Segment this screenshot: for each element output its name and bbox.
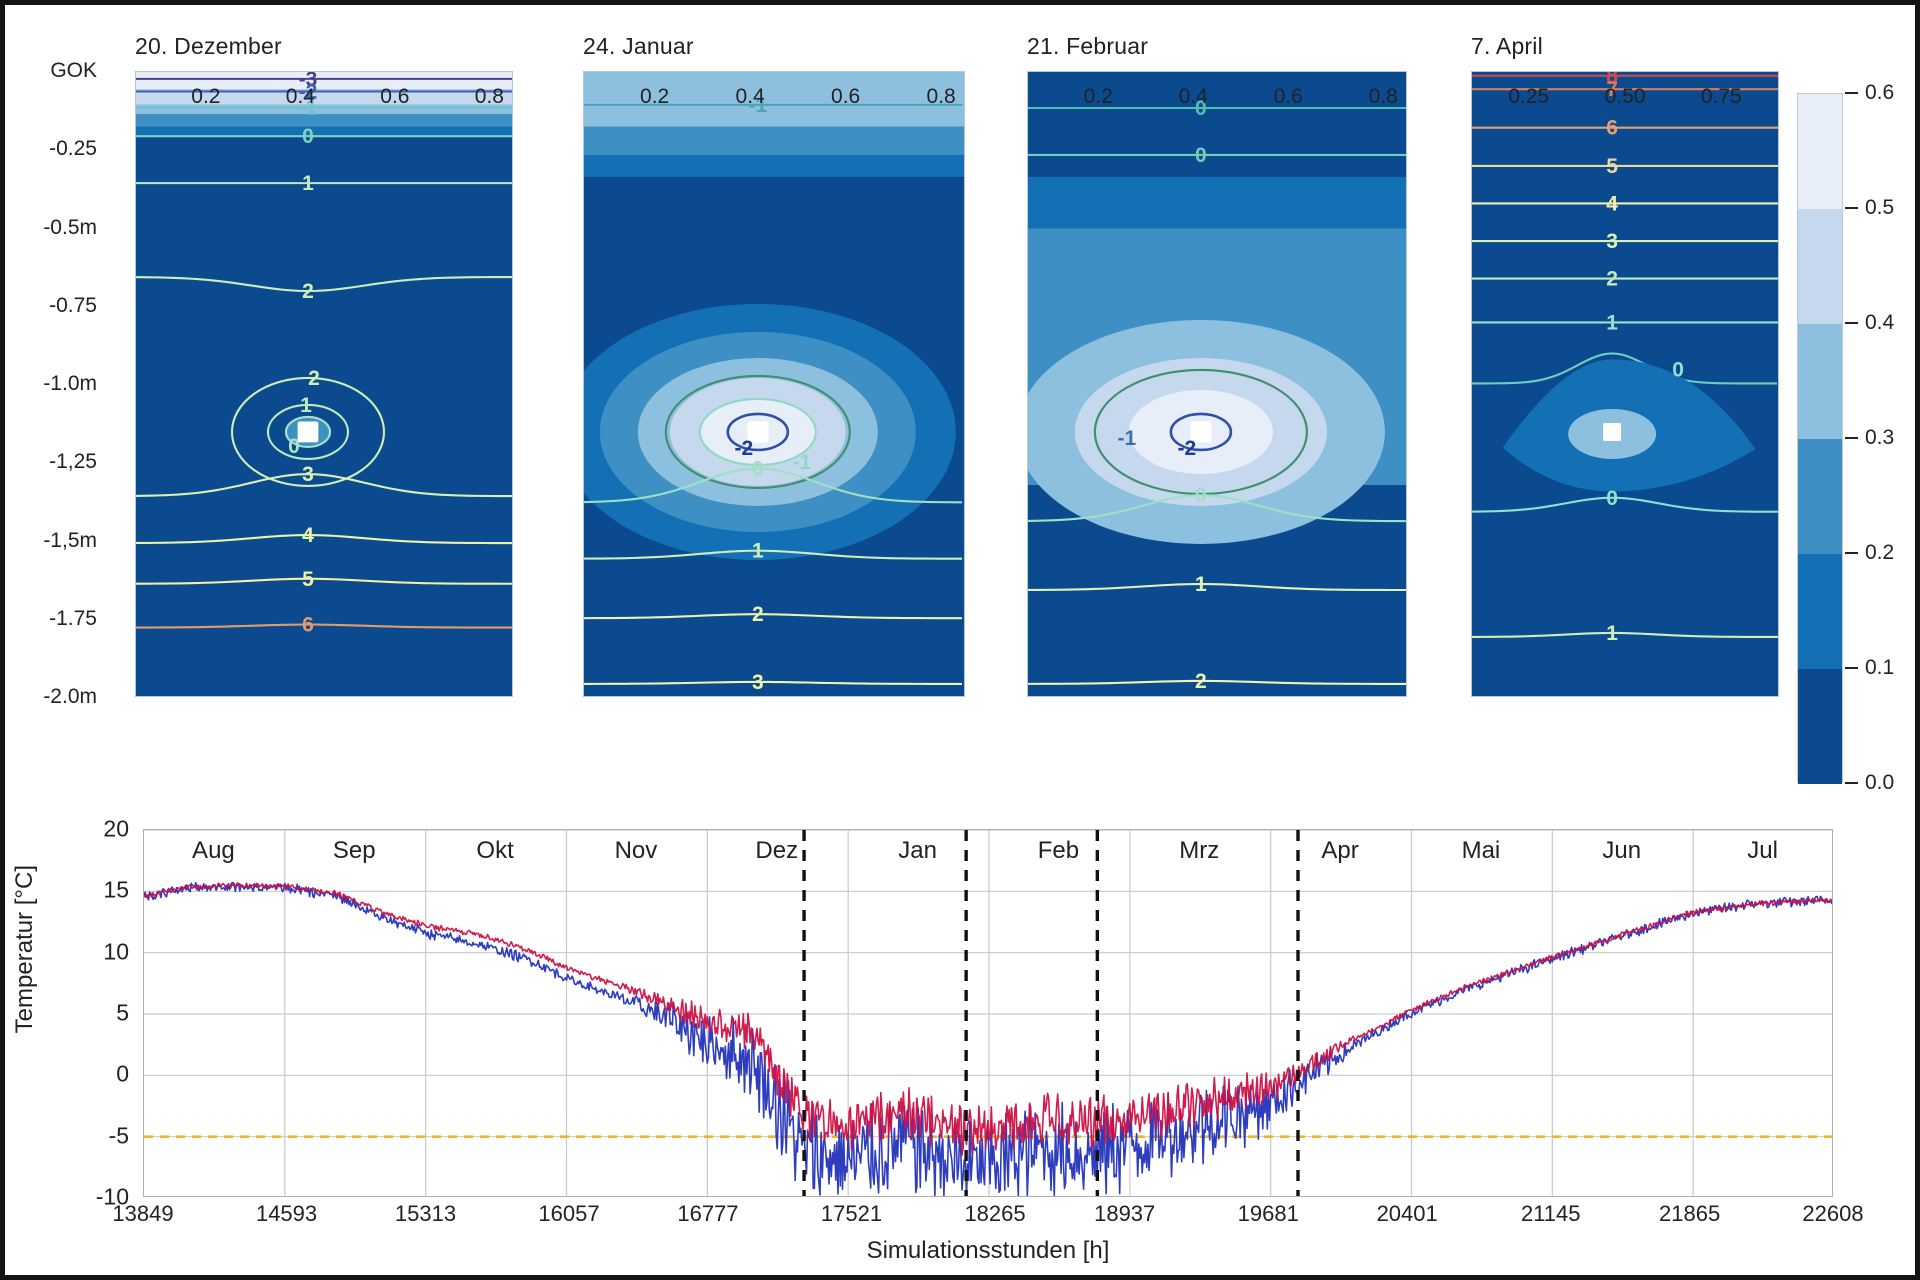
colorbar-tick-value: 0.1 — [1865, 656, 1894, 679]
contour-label: -1 — [1118, 427, 1137, 450]
month-label: Aug — [192, 837, 235, 865]
contour-label: 2 — [302, 280, 314, 303]
depth-tick-label: -1,5m — [43, 529, 97, 553]
contour-label: 0 — [1672, 358, 1684, 381]
colorbar-tick-value: 0.4 — [1865, 311, 1894, 334]
timeseries-x-tick-label: 14593 — [256, 1201, 317, 1227]
panel-x-tick-label: 0.6 — [1274, 85, 1303, 109]
contour-label: 1 — [300, 394, 312, 417]
contour-label: 0 — [1606, 487, 1618, 510]
colorbar-tick-label: 0.6 — [1845, 81, 1894, 105]
timeseries-x-tick-label: 21865 — [1659, 1201, 1720, 1227]
depth-tick-label: -1.75 — [49, 607, 97, 631]
contour-label: 5 — [302, 568, 314, 591]
timeseries-y-tick-label: 15 — [103, 877, 129, 904]
contour-plot-area[interactable]: 87654321001 — [1471, 71, 1779, 697]
colorbar-band — [1798, 669, 1842, 784]
timeseries-x-tick-label: 20401 — [1377, 1201, 1438, 1227]
contour-label: 1 — [1195, 573, 1207, 596]
contour-label: 0 — [1195, 144, 1207, 167]
timeseries-y-tick-label: 10 — [103, 938, 129, 965]
contour-label: 4 — [302, 524, 314, 547]
month-label: Nov — [615, 837, 658, 865]
colorbar-band — [1798, 94, 1842, 209]
timeseries-chart: 20151050-5-10 AugSepOktNovDezJanFebMrzAp… — [5, 805, 1915, 1275]
contour-label: 0 — [752, 457, 764, 480]
timeseries-x-tick-label: 21145 — [1521, 1201, 1581, 1227]
colorbar-tick-value: 0.5 — [1865, 196, 1894, 219]
colorbar-tick-value: 0.6 — [1865, 81, 1894, 104]
panel-x-tick-label: 0.2 — [640, 85, 669, 109]
contour-label: 0 — [288, 435, 300, 458]
contour-field: 00-2-1012 — [1028, 72, 1407, 697]
depth-tick-label: -1.0m — [43, 372, 97, 396]
timeseries-x-tick-label: 13849 — [112, 1201, 173, 1227]
month-label: Okt — [476, 837, 513, 865]
colorbar[interactable] — [1797, 93, 1843, 783]
contour-field: -1-2-10123 — [584, 72, 965, 697]
colorbar-tick-label: 0.1 — [1845, 656, 1894, 680]
contour-label: 2 — [752, 603, 764, 626]
timeseries-x-axis-label: Simulationsstunden [h] — [143, 1237, 1833, 1265]
month-label: Mrz — [1179, 837, 1219, 865]
depth-tick-label: GOK — [50, 59, 97, 83]
timeseries-x-tick-label: 17521 — [821, 1201, 882, 1227]
month-label: Mai — [1462, 837, 1501, 865]
timeseries-x-tick-label: 18265 — [964, 1201, 1025, 1227]
colorbar-tick-label: 0.4 — [1845, 311, 1894, 335]
timeseries-month-labels: AugSepOktNovDezJanFebMrzAprMaiJunJul — [143, 829, 1833, 873]
depth-axis: GOK-0.25-0.5m-0.75-1.0m-1,25-1,5m-1.75-2… — [5, 71, 105, 697]
contour-label: -2 — [1178, 437, 1197, 460]
timeseries-x-tick-label: 22608 — [1802, 1201, 1863, 1227]
colorbar-band — [1798, 554, 1842, 669]
timeseries-y-tick-label: 5 — [116, 1000, 129, 1027]
colorbar-tick-label: 0.2 — [1845, 541, 1894, 565]
panel-x-tick-label: 0.8 — [475, 85, 504, 109]
month-label: Dez — [755, 837, 798, 865]
colorbar-tick-value: 0.3 — [1865, 426, 1894, 449]
colorbar-ticks: 0.60.50.40.30.20.10.0 — [1845, 93, 1915, 783]
contour-label: 3 — [1606, 230, 1618, 253]
panel-x-tick-label: 0.6 — [380, 85, 409, 109]
panel-x-tick-label: 0.4 — [286, 85, 315, 109]
timeseries-x-tick-label: 16777 — [677, 1201, 738, 1227]
colorbar-band — [1798, 439, 1842, 554]
contour-label: -1 — [792, 451, 811, 474]
timeseries-canvas — [144, 830, 1833, 1197]
depth-tick-label: -2.0m — [43, 685, 97, 709]
month-label: Feb — [1038, 837, 1079, 865]
timeseries-y-tick-label: 20 — [103, 816, 129, 843]
timeseries-y-ticks: 20151050-5-10 — [63, 829, 137, 1197]
timeseries-x-tick-label: 15313 — [395, 1201, 456, 1227]
colorbar-tick-label: 0.0 — [1845, 771, 1894, 795]
month-label: Sep — [333, 837, 376, 865]
colorbar-tick-label: 0.3 — [1845, 426, 1894, 450]
contour-label: 1 — [302, 172, 314, 195]
panel-x-tick-label: 0.8 — [1369, 85, 1398, 109]
contour-label: 2 — [1195, 670, 1207, 693]
contour-label: -2 — [734, 437, 753, 460]
colorbar-tick-label: 0.5 — [1845, 196, 1894, 220]
contour-plot-area[interactable]: -3-2-10122103456 — [135, 71, 513, 697]
contour-plot-area[interactable]: 00-2-1012 — [1027, 71, 1407, 697]
timeseries-x-ticks: 1384914593153131605716777175211826518937… — [143, 1201, 1833, 1241]
month-label: Jul — [1747, 837, 1778, 865]
figure-page: GOK-0.25-0.5m-0.75-1.0m-1,25-1,5m-1.75-2… — [0, 0, 1920, 1280]
contour-label: 1 — [1606, 311, 1618, 334]
timeseries-x-tick-label: 18937 — [1094, 1201, 1155, 1227]
contour-label: 0 — [1195, 484, 1207, 507]
contour-field: -3-2-10122103456 — [136, 72, 513, 697]
panel-x-tick-label: 0.50 — [1605, 85, 1646, 109]
contour-plot-area[interactable]: -1-2-10123 — [583, 71, 965, 697]
contour-label: 1 — [1606, 622, 1618, 645]
panel-x-tick-label: 0.25 — [1508, 85, 1549, 109]
depth-tick-label: -0.25 — [49, 137, 97, 161]
contour-label: 2 — [308, 367, 320, 390]
timeseries-y-tick-label: 0 — [116, 1061, 129, 1088]
panel-x-tick-label: 0.8 — [927, 85, 956, 109]
timeseries-y-tick-label: -5 — [109, 1122, 129, 1149]
panel-x-tick-label: 0.75 — [1701, 85, 1742, 109]
depth-tick-label: -0.75 — [49, 294, 97, 318]
contour-label: 1 — [752, 540, 764, 563]
panel-x-tick-label: 0.6 — [831, 85, 860, 109]
panel-x-tick-label: 0.2 — [1084, 85, 1113, 109]
colorbar-band — [1798, 209, 1842, 324]
colorbar-tick-value: 0.0 — [1865, 771, 1894, 794]
contour-label: 4 — [1606, 192, 1618, 215]
contour-label: 6 — [302, 614, 314, 637]
month-label: Jun — [1602, 837, 1641, 865]
contour-panel-row: GOK-0.25-0.5m-0.75-1.0m-1,25-1,5m-1.75-2… — [5, 5, 1915, 805]
depth-tick-label: -0.5m — [43, 216, 97, 240]
colorbar-tick-value: 0.2 — [1865, 541, 1894, 564]
timeseries-x-tick-label: 16057 — [538, 1201, 599, 1227]
contour-label: 5 — [1606, 155, 1618, 178]
colorbar-band — [1798, 324, 1842, 439]
timeseries-x-tick-label: 19681 — [1238, 1201, 1299, 1227]
contour-label: 2 — [1606, 268, 1618, 291]
panel-x-tick-label: 0.2 — [191, 85, 220, 109]
panel-x-tick-label: 0.4 — [1179, 85, 1208, 109]
contour-label: 3 — [302, 463, 314, 486]
contour-label: 6 — [1606, 117, 1618, 140]
contour-label: 0 — [302, 125, 314, 148]
depth-tick-label: -1,25 — [49, 450, 97, 474]
contour-label: 3 — [752, 671, 764, 694]
month-label: Apr — [1321, 837, 1358, 865]
panel-x-tick-label: 0.4 — [736, 85, 765, 109]
timeseries-plot-area[interactable] — [143, 829, 1833, 1197]
month-label: Jan — [898, 837, 937, 865]
contour-field: 87654321001 — [1472, 72, 1779, 697]
